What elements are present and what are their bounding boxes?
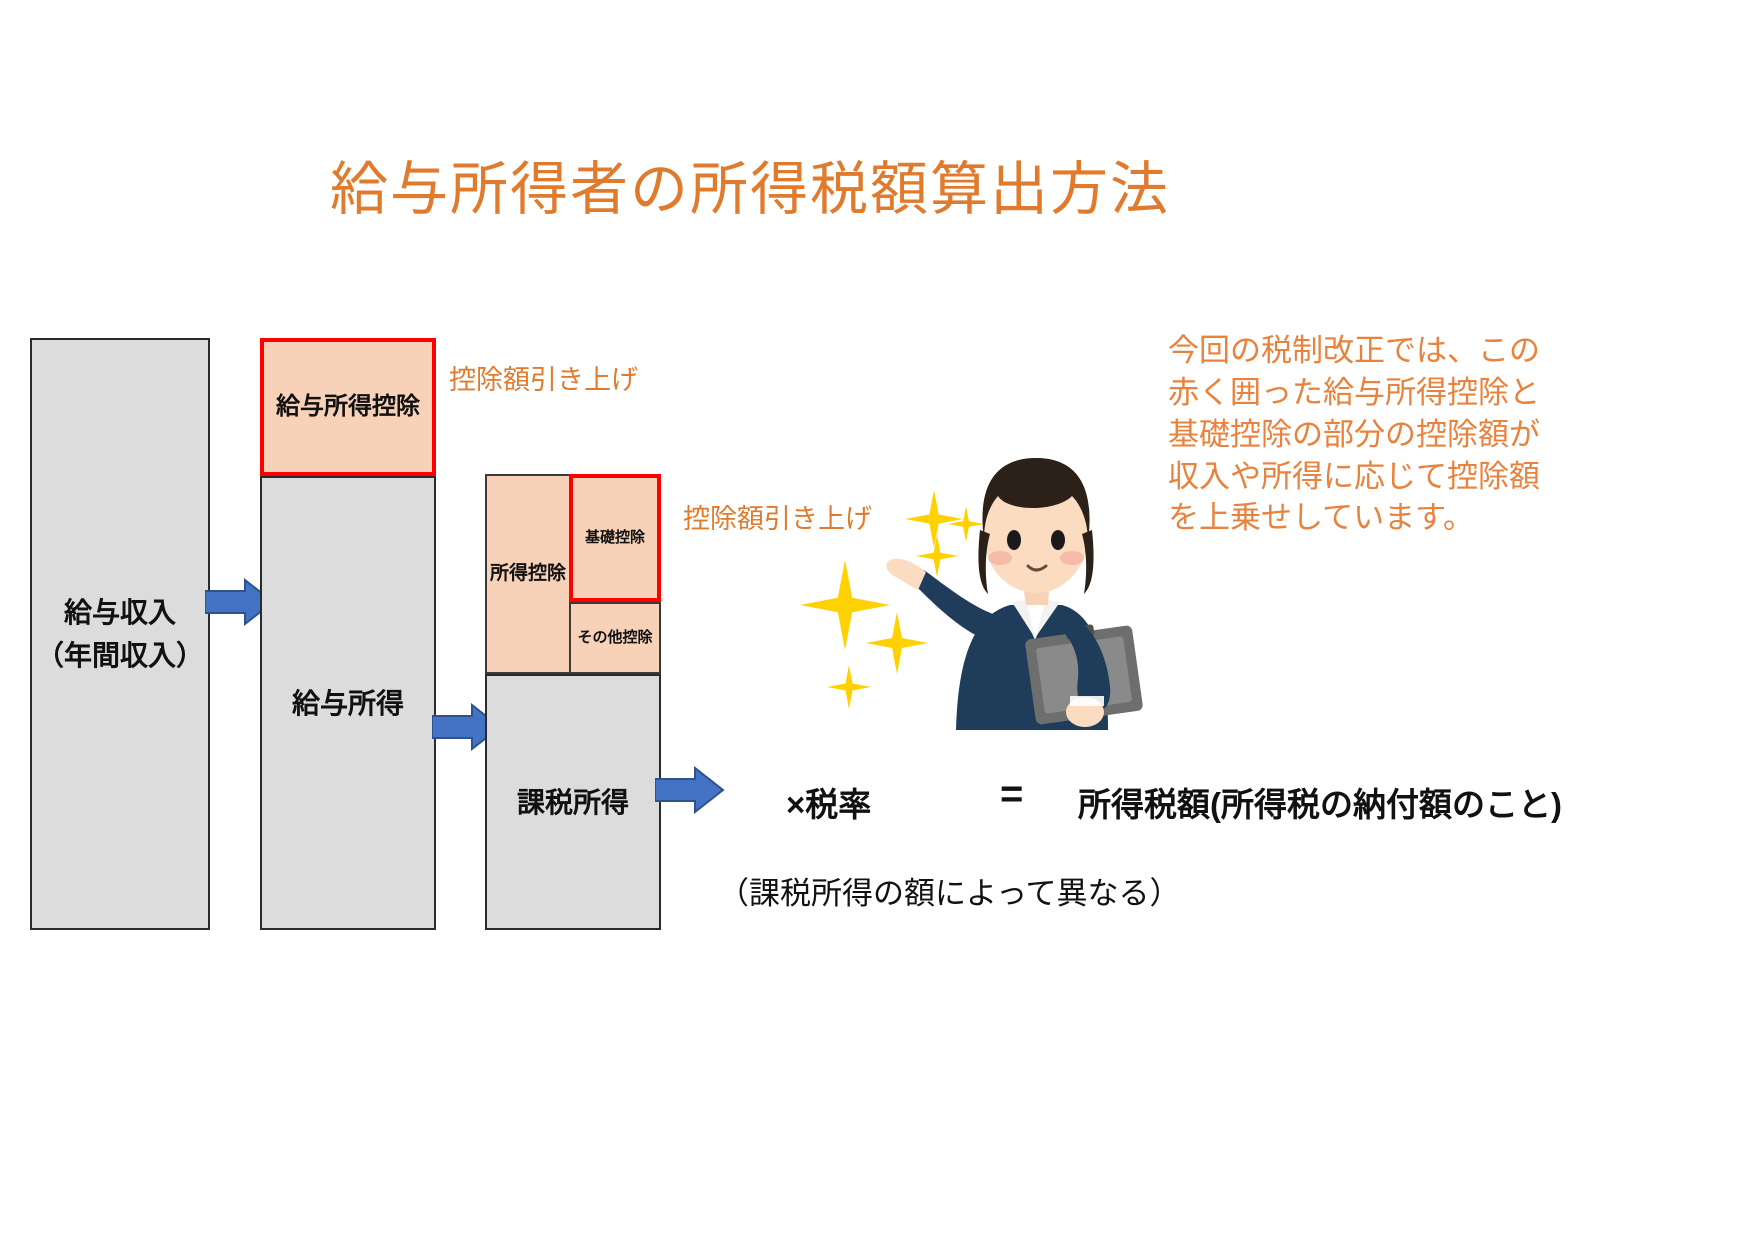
annotation-deduction-raise-mid: 控除額引き上げ: [683, 497, 872, 536]
formula-result: 所得税額(所得税の納付額のこと): [1078, 778, 1562, 826]
block-salary-income-amount: 給与所得: [260, 476, 436, 930]
formula-multiplier: ×税率: [786, 778, 871, 826]
block-taxable-income-label: 課税所得: [517, 785, 629, 820]
illustration-woman-pointing: [880, 400, 1180, 755]
block-income-deduction-label: 所得控除: [490, 562, 566, 586]
block-salary-income-label-1: 給与収入: [64, 595, 176, 630]
block-other-deduction-label: その他控除: [577, 629, 652, 648]
block-basic-deduction: 基礎控除: [569, 474, 661, 602]
arrow-taxable-to-formula: [655, 766, 725, 819]
block-salary-income-label-2: （年間収入）: [36, 638, 204, 673]
block-salary-income: 給与収入 （年間収入）: [30, 338, 210, 930]
formula-note: （課税所得の額によって異なる）: [718, 868, 1181, 913]
formula-equals: =: [1000, 772, 1021, 817]
block-salary-income-amount-label: 給与所得: [292, 686, 404, 721]
sparkle-icon-small-2: [827, 665, 871, 714]
annotation-deduction-raise-top: 控除額引き上げ: [449, 358, 638, 397]
diagram-canvas: 給与所得者の所得税額算出方法 給与収入 （年間収入） 給与所得控除 給与所得 所…: [0, 0, 1755, 1240]
block-basic-deduction-label: 基礎控除: [585, 529, 645, 548]
block-income-deduction: 所得控除: [485, 474, 571, 674]
block-employment-income-deduction-label: 給与所得控除: [276, 392, 420, 422]
block-employment-income-deduction: 給与所得控除: [260, 338, 436, 476]
page-title: 給与所得者の所得税額算出方法: [0, 142, 1500, 226]
block-taxable-income: 課税所得: [485, 674, 661, 930]
annotation-paragraph: 今回の税制改正では、この 赤く囲った給与所得控除と 基礎控除の部分の控除額が 収…: [1168, 330, 1548, 539]
arrow-right-icon: [655, 766, 725, 814]
block-other-deduction: その他控除: [569, 602, 661, 674]
